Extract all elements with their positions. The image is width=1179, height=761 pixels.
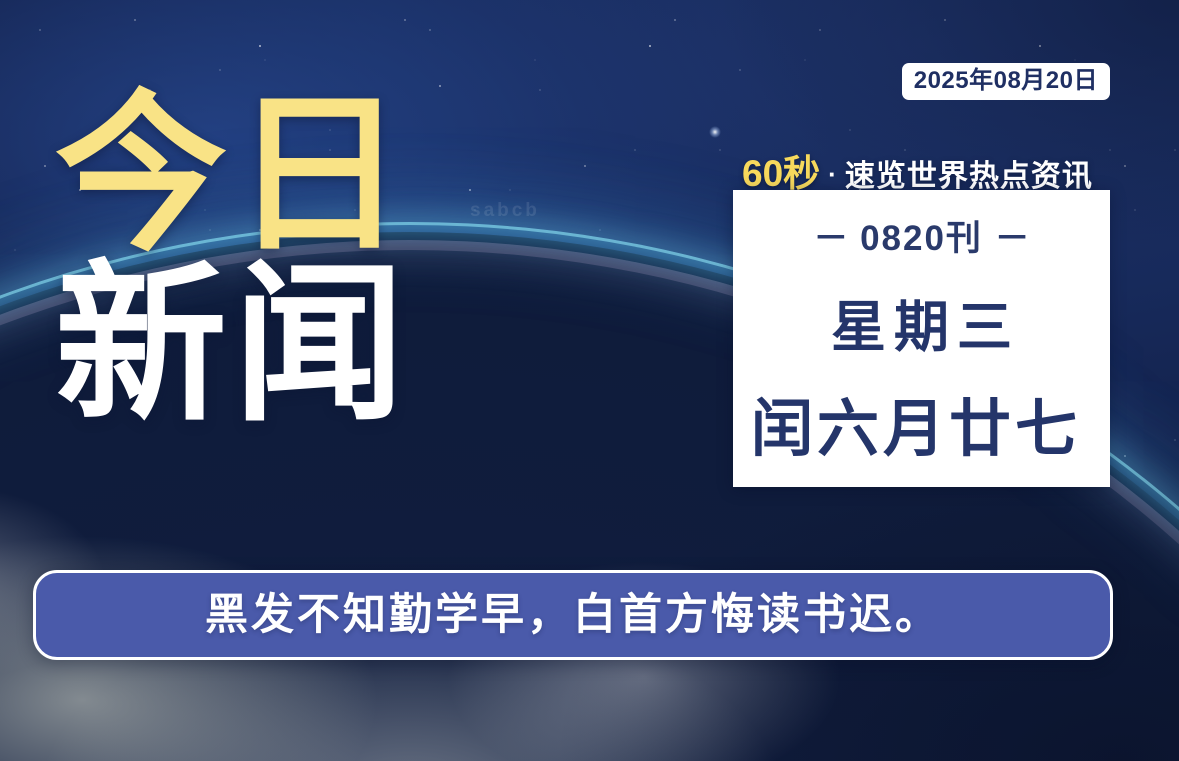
tagline-phrase: 速览世界热点资讯	[845, 151, 1093, 195]
issue-row: － 0820刊 －	[733, 210, 1110, 261]
page-title-line-2: 新闻	[55, 266, 495, 424]
quote-banner: 黑发不知勤学早，白首方悔读书迟。	[33, 570, 1113, 660]
tagline-seconds: 60秒	[742, 143, 820, 197]
weekday-label: 星期三	[733, 282, 1110, 362]
tagline: 60秒 · 速览世界热点资讯	[742, 143, 1093, 197]
page-title: 今日 新闻	[55, 96, 495, 424]
issue-number: 0820刊	[860, 219, 983, 258]
issue-dash-right: －	[995, 219, 1030, 258]
tagline-separator: ·	[826, 159, 839, 190]
date-badge: 2025年08月20日	[902, 63, 1110, 100]
issue-dash-left: －	[813, 219, 848, 258]
lunar-date-label: 闰六月廿七	[751, 378, 1081, 468]
issue-info-card: － 0820刊 － 星期三 闰六月廿七	[733, 190, 1110, 487]
quote-text: 黑发不知勤学早，白首方悔读书迟。	[205, 594, 941, 637]
page-title-line-1: 今日	[55, 96, 495, 254]
news-poster: sabcb 今日 新闻 2025年08月20日 60秒 · 速览世界热点资讯 －…	[0, 0, 1179, 761]
